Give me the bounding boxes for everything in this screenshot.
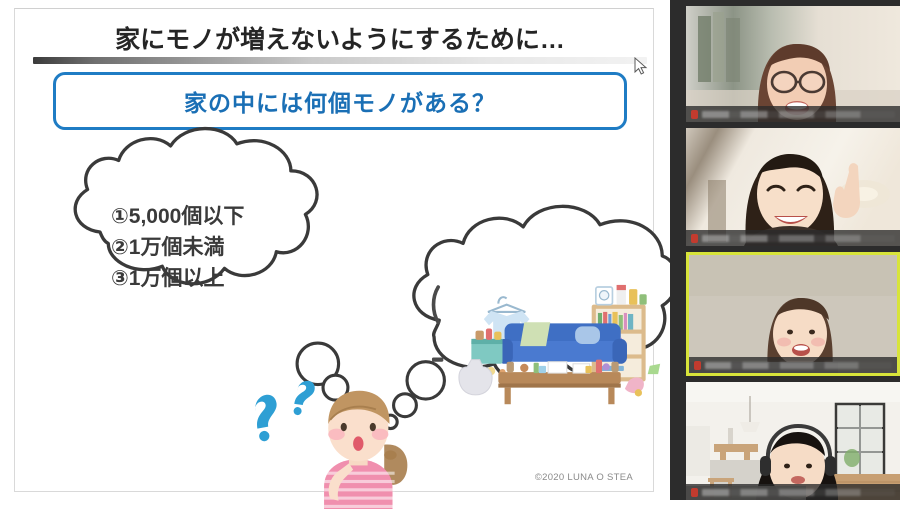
copyright-notice: ©2020 LUNA O STEA — [535, 472, 633, 483]
participant-name-2 — [702, 235, 895, 242]
microphone-muted-icon — [691, 110, 698, 119]
participant-name-bar-2 — [686, 230, 900, 246]
participant-name-1 — [702, 111, 895, 118]
microphone-muted-icon — [691, 234, 698, 243]
participant-name-3 — [705, 362, 892, 369]
participant-name-bar-1 — [686, 106, 900, 122]
mouse-cursor-icon — [634, 57, 648, 75]
participant-name-bar-3 — [689, 357, 897, 373]
participant-video-rail — [670, 0, 900, 500]
blue-question-marks-icon — [252, 379, 316, 442]
slide-frame: 家にモノが増えないようにするために… 家の中には何個モノがある？ — [14, 8, 654, 492]
participant-tile-1[interactable] — [686, 6, 900, 122]
shared-slide-area: 家にモノが増えないようにするために… 家の中には何個モノがある？ — [0, 0, 670, 500]
participant-video-feed-1 — [686, 6, 900, 122]
microphone-muted-icon — [694, 361, 701, 370]
room-bubble-tail — [384, 362, 445, 429]
participant-video-feed-4 — [686, 382, 900, 500]
screen-share-meeting-view: 家にモノが増えないようにするために… 家の中には何個モノがある？ — [0, 0, 900, 500]
answer-option-3: ③1万個以上 — [111, 263, 341, 294]
participant-tile-3[interactable] — [686, 252, 900, 376]
participant-video-feed-2 — [686, 128, 900, 246]
participant-tile-4[interactable] — [686, 382, 900, 500]
microphone-muted-icon — [691, 488, 698, 497]
answer-option-2: ②1万個未満 — [111, 232, 341, 263]
participant-name-4 — [702, 489, 895, 496]
participant-tile-2[interactable] — [686, 128, 900, 246]
answer-options-list: ①5,000個以下 ②1万個未満 ③1万個以上 — [111, 201, 341, 294]
participant-name-bar-4 — [686, 484, 900, 500]
answer-option-1: ①5,000個以下 — [111, 201, 341, 232]
